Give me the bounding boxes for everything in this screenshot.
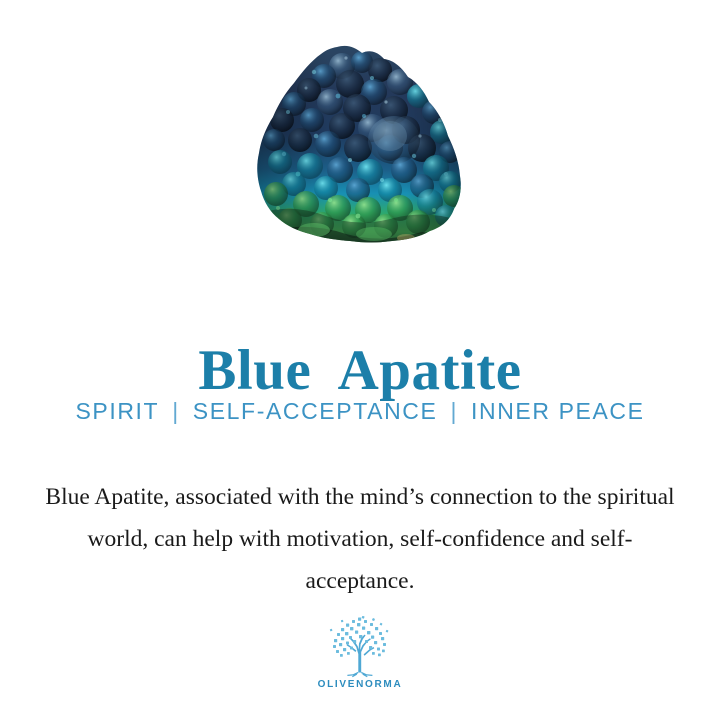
keyword-spirit: SPIRIT [75,398,159,424]
tree-icon [328,616,392,678]
keyword-separator: | [159,398,193,425]
keyword-separator: | [437,398,471,425]
product-info-card: Blue Apatite SPIRIT|SELF-ACCEPTANCE|INNE… [0,0,720,720]
keyword-self-acceptance: SELF-ACCEPTANCE [193,398,438,424]
brand-logo: OLIVENORMA [0,616,720,690]
product-image-container [0,0,720,265]
specimen-body [254,44,466,246]
specimen-illustration [254,44,466,246]
keyword-inner-peace: INNER PEACE [471,398,645,424]
product-description: Blue Apatite, associated with the mind’s… [34,476,686,602]
page-title: Blue Apatite [0,341,720,401]
keyword-list: SPIRIT|SELF-ACCEPTANCE|INNER PEACE [0,398,720,425]
brand-name: OLIVENORMA [318,679,403,690]
blue-apatite-specimen-image [254,44,466,246]
